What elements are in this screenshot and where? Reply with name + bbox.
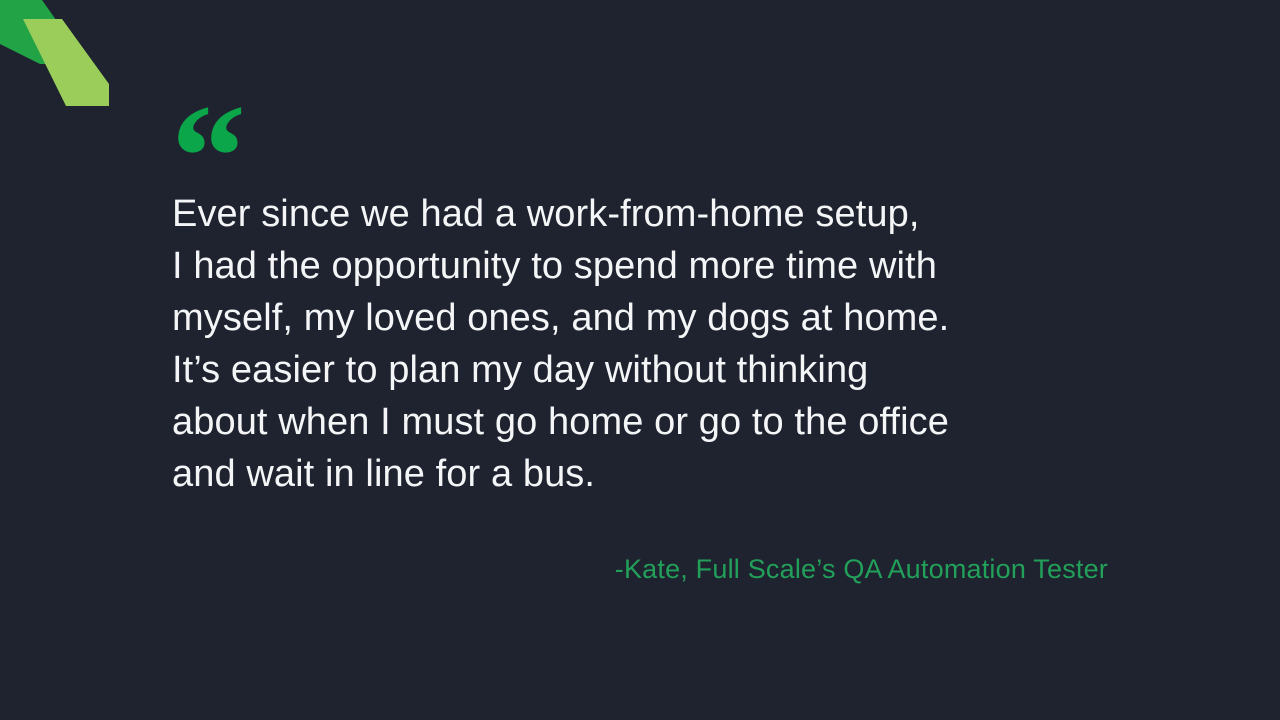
quote-text-block: Ever since we had a work-from-home setup… bbox=[172, 188, 1132, 500]
quote-line: It’s easier to plan my day without think… bbox=[172, 344, 1132, 396]
corner-dark-green-stripe bbox=[0, 0, 87, 64]
quote-line: Ever since we had a work-from-home setup… bbox=[172, 188, 1132, 240]
quote-slide: “ Ever since we had a work-from-home set… bbox=[0, 0, 1280, 720]
quote-attribution: -Kate, Full Scale’s QA Automation Tester bbox=[0, 551, 1108, 587]
quote-line: and wait in line for a bus. bbox=[172, 448, 1132, 500]
quote-line: I had the opportunity to spend more time… bbox=[172, 240, 1132, 292]
corner-chevron-graphic bbox=[0, 0, 160, 160]
corner-light-green-stripe bbox=[23, 19, 109, 106]
corner-dark-green-stripe-lower bbox=[0, 0, 87, 64]
quote-line: myself, my loved ones, and my dogs at ho… bbox=[172, 292, 1132, 344]
quote-line: about when I must go home or go to the o… bbox=[172, 396, 1132, 448]
